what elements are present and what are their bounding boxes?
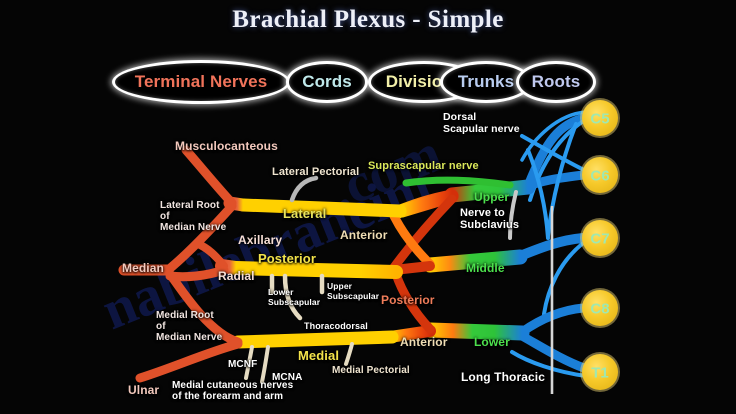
mcna-branch [262,347,268,382]
root-node-label: C5 [590,111,609,128]
medial-pectoral-branch [346,344,352,364]
root-node-label: C6 [590,168,609,185]
thoracodorsal-branch [285,276,300,318]
musculocutaneous-nerve [186,150,232,203]
root-node-label: C8 [590,301,609,318]
root-node-c7[interactable]: C7 [580,218,620,258]
diagram-canvas: nabilebraheim .com [0,0,736,414]
mcnf-branch [246,347,252,378]
nerve-to-subclavius-branch [510,192,516,238]
root-node-c6[interactable]: C6 [580,155,620,195]
brachial-plexus-illustration: nabilebraheim .com [0,0,736,414]
root-node-label: T1 [591,365,609,382]
root-node-c5[interactable]: C5 [580,98,620,138]
root-circles-group: C5C6C7C8T1 [580,98,620,392]
root-node-c8[interactable]: C8 [580,288,620,328]
watermark: nabilebraheim .com [94,122,450,342]
suprascapular-nerve-branch [406,180,510,185]
root-node-label: C7 [590,231,609,248]
ulnar-nerve [140,344,238,378]
root-node-t1[interactable]: T1 [580,352,620,392]
